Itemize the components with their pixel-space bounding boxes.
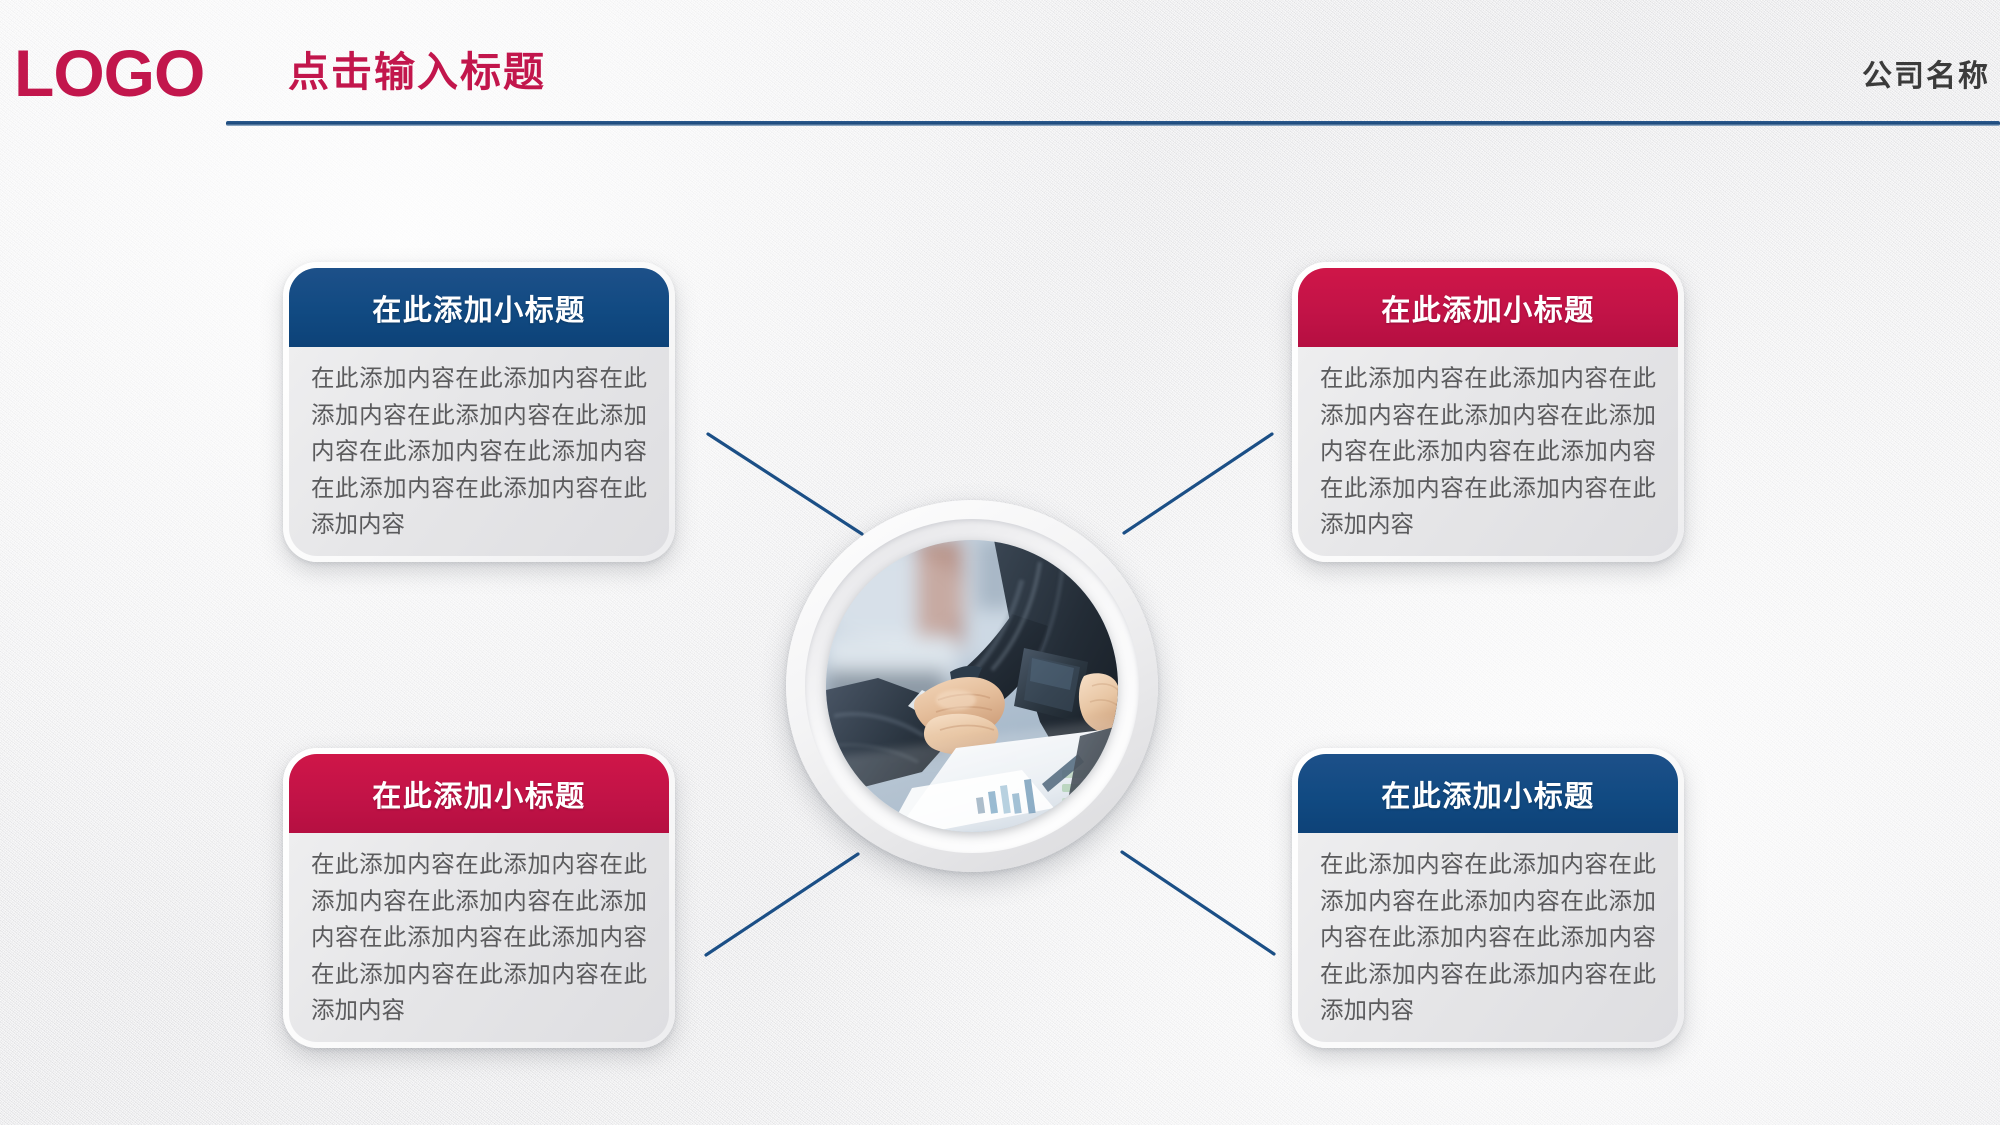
handshake-photo (826, 540, 1118, 832)
card-title-top-right: 在此添加小标题 (1298, 268, 1678, 347)
connector-line-bottom-right (1122, 852, 1274, 954)
card-text: 在此添加内容在此添加内容在此添加内容在此添加内容在此添加内容在此添加内容在此添加… (1320, 360, 1656, 543)
slide-header: LOGO 点击输入标题 公司名称 (0, 0, 2000, 150)
info-card-top-left[interactable]: 在此添加小标题 在此添加内容在此添加内容在此添加内容在此添加内容在此添加内容在此… (283, 262, 675, 562)
info-card-bottom-right[interactable]: 在此添加小标题 在此添加内容在此添加内容在此添加内容在此添加内容在此添加内容在此… (1292, 748, 1684, 1048)
center-medallion (786, 500, 1158, 872)
card-inner: 在此添加小标题 在此添加内容在此添加内容在此添加内容在此添加内容在此添加内容在此… (1298, 754, 1678, 1042)
card-body-top-left: 在此添加内容在此添加内容在此添加内容在此添加内容在此添加内容在此添加内容在此添加… (289, 347, 669, 556)
connector-line-bottom-left (706, 854, 858, 955)
card-body-bottom-right: 在此添加内容在此添加内容在此添加内容在此添加内容在此添加内容在此添加内容在此添加… (1298, 833, 1678, 1042)
slide-canvas: LOGO 点击输入标题 公司名称 (0, 0, 2000, 1125)
card-inner: 在此添加小标题 在此添加内容在此添加内容在此添加内容在此添加内容在此添加内容在此… (289, 268, 669, 556)
connector-line-top-right (1124, 434, 1272, 533)
logo: LOGO (14, 40, 204, 106)
info-card-bottom-left[interactable]: 在此添加小标题 在此添加内容在此添加内容在此添加内容在此添加内容在此添加内容在此… (283, 748, 675, 1048)
card-text: 在此添加内容在此添加内容在此添加内容在此添加内容在此添加内容在此添加内容在此添加… (311, 846, 647, 1029)
page-title: 点击输入标题 (288, 52, 546, 93)
card-inner: 在此添加小标题 在此添加内容在此添加内容在此添加内容在此添加内容在此添加内容在此… (289, 754, 669, 1042)
card-text: 在此添加内容在此添加内容在此添加内容在此添加内容在此添加内容在此添加内容在此添加… (1320, 846, 1656, 1029)
card-body-bottom-left: 在此添加内容在此添加内容在此添加内容在此添加内容在此添加内容在此添加内容在此添加… (289, 833, 669, 1042)
header-divider (226, 121, 2000, 126)
company-name: 公司名称 (1862, 62, 1990, 92)
card-title-top-left: 在此添加小标题 (289, 268, 669, 347)
card-title-bottom-left: 在此添加小标题 (289, 754, 669, 833)
card-title-bottom-right: 在此添加小标题 (1298, 754, 1678, 833)
connector-line-top-left (708, 434, 862, 534)
card-text: 在此添加内容在此添加内容在此添加内容在此添加内容在此添加内容在此添加内容在此添加… (311, 360, 647, 543)
card-inner: 在此添加小标题 在此添加内容在此添加内容在此添加内容在此添加内容在此添加内容在此… (1298, 268, 1678, 556)
card-body-top-right: 在此添加内容在此添加内容在此添加内容在此添加内容在此添加内容在此添加内容在此添加… (1298, 347, 1678, 556)
medallion-ring (805, 519, 1139, 853)
info-card-top-right[interactable]: 在此添加小标题 在此添加内容在此添加内容在此添加内容在此添加内容在此添加内容在此… (1292, 262, 1684, 562)
